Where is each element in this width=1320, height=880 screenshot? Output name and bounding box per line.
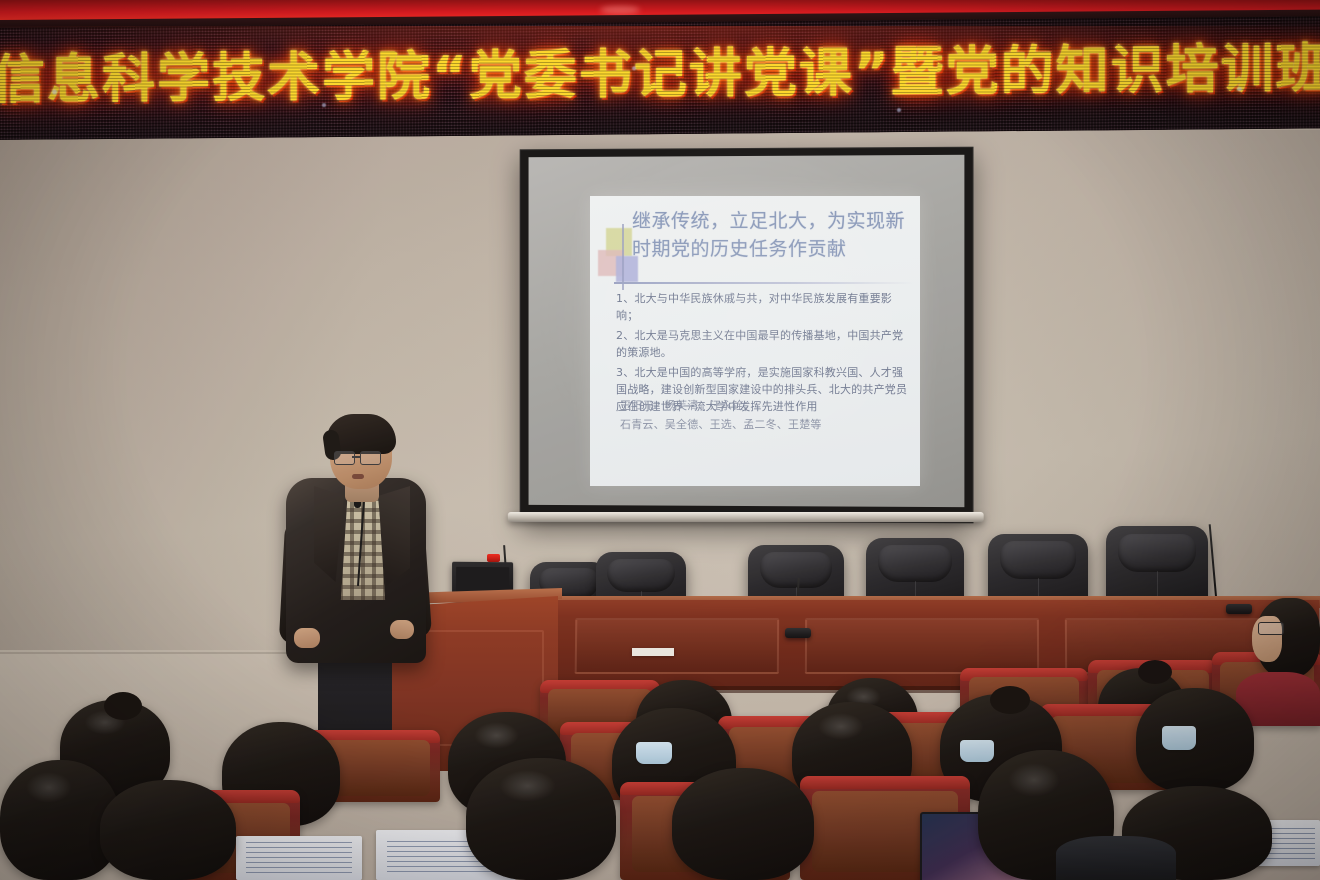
audience-head xyxy=(466,758,616,880)
water-bottle-cap xyxy=(487,554,500,562)
face-mask xyxy=(636,742,672,764)
slide-bullet: 2、北大是马克思主义在中国最早的传播基地，中国共产党的策源地。 xyxy=(616,327,910,362)
slide-bullet: 1、北大与中华民族休戚与共，对中华民族发展有重要影响； xyxy=(616,290,910,325)
slide-name-line: 石青云、吴全德、王选、孟二冬、王楚等 xyxy=(620,415,910,434)
speaker-glasses-left-lens xyxy=(334,451,355,465)
deco-vertical-line xyxy=(622,224,624,290)
audience-head xyxy=(100,780,236,880)
led-speck xyxy=(897,108,901,112)
led-glow xyxy=(0,26,1320,52)
face-mask xyxy=(960,740,994,762)
presentation-slide: 继承传统，立足北大，为实现新时期党的历史任务作贡献 1、北大与中华民族休戚与共，… xyxy=(590,196,920,486)
speaker-right-hand xyxy=(390,620,414,639)
microphone-base xyxy=(785,628,811,638)
slide-title: 继承传统，立足北大，为实现新时期党的历史任务作贡献 xyxy=(632,208,916,263)
audience-laptop xyxy=(236,836,362,880)
led-speck xyxy=(632,66,636,70)
led-speck xyxy=(52,89,57,94)
table-panel xyxy=(805,618,1039,674)
led-speck xyxy=(322,103,326,107)
slide-name-line: 王阳元、杨芙清、汪永铨； xyxy=(620,396,910,415)
audience-hair-bun xyxy=(990,686,1030,714)
screen-roller-bar xyxy=(508,512,984,522)
paper-sheet xyxy=(632,648,674,656)
microphone-base xyxy=(1226,604,1252,614)
table-panel xyxy=(575,618,779,674)
face-mask xyxy=(1162,726,1196,750)
slide-divider xyxy=(614,282,914,284)
led-speck xyxy=(1237,87,1242,91)
audience-shoulders xyxy=(1056,836,1176,880)
audience-head xyxy=(672,768,814,880)
audience-hair-bun xyxy=(1138,660,1172,684)
glasses-icon xyxy=(1258,622,1284,635)
audience-hair-bun xyxy=(104,692,142,720)
speaker-glasses-bridge xyxy=(352,456,361,458)
speaker-glasses-right-lens xyxy=(360,451,381,465)
auditorium-photo: 信息科学技术学院“党委书记讲党课”暨党的知识培训班开班动员会 继承传统，立足北大… xyxy=(0,0,1320,880)
slide-name-list: 王阳元、杨芙清、汪永铨； 石青云、吴全德、王选、孟二冬、王楚等 xyxy=(620,396,910,435)
speaker-left-hand xyxy=(294,628,320,648)
speaker-mouth xyxy=(352,474,364,479)
